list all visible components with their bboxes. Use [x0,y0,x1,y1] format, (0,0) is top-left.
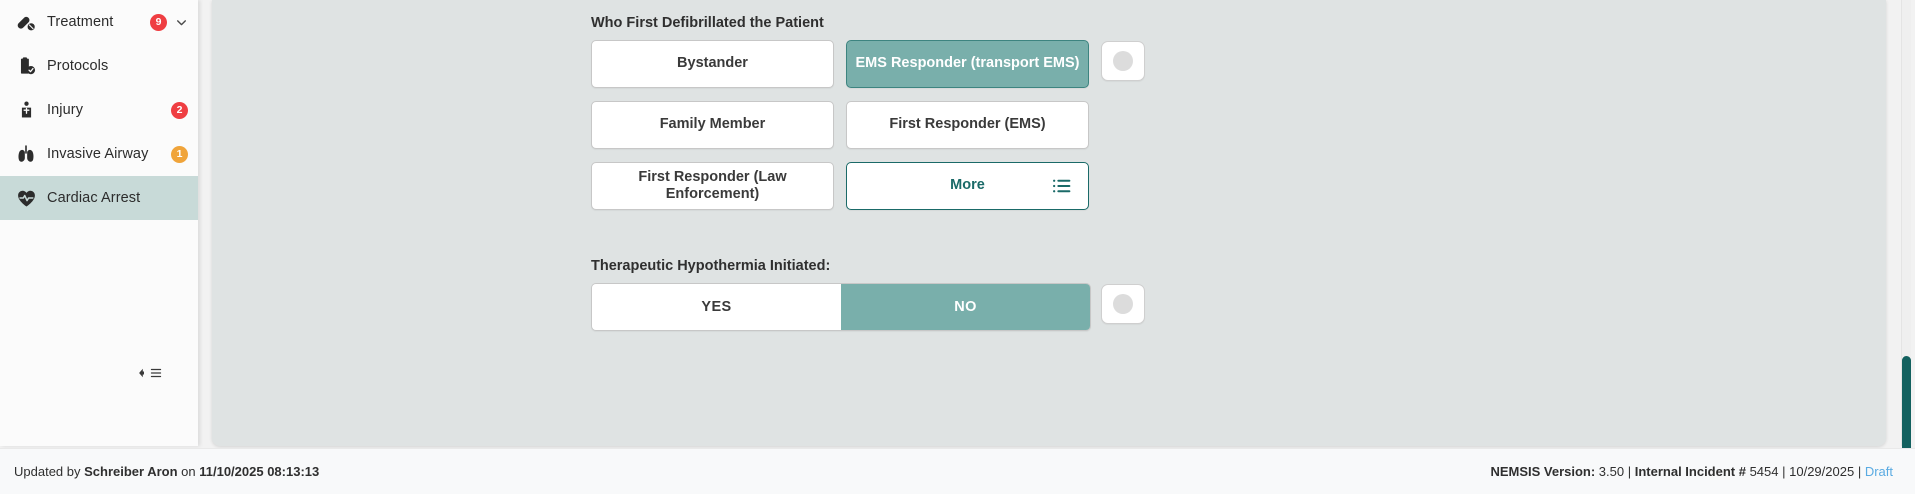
hypothermia-option-yes[interactable]: YES [592,284,841,330]
status-badge[interactable]: Draft [1861,464,1893,479]
list-icon [1051,176,1072,197]
updated-user: Schreiber Aron [84,464,177,479]
sidebar-badge-treatment: 9 [150,14,167,31]
injury-person-icon [14,99,38,121]
defib-question-label: Who First Defibrillated the Patient [591,15,824,31]
sidebar-badge-invasive-airway: 1 [171,146,188,163]
heart-pulse-icon [14,187,38,209]
defib-more-button[interactable]: More [846,162,1089,210]
content-panel: Who First Defibrillated the Patient Byst… [212,0,1886,446]
collapse-sidebar-row [0,366,198,384]
defib-option-family-member[interactable]: Family Member [591,101,834,149]
defib-option-first-responder-ems[interactable]: First Responder (EMS) [846,101,1089,149]
circle-icon [1113,51,1133,71]
sidebar-item-protocols[interactable]: Protocols [0,44,198,88]
defib-option-bystander[interactable]: Bystander [591,40,834,88]
lungs-icon [14,143,38,165]
updated-prefix: Updated by [14,464,84,479]
circle-icon [1113,294,1133,314]
record-meta-text: NEMSIS Version: 3.50 | Internal Incident… [1490,464,1893,479]
nemsis-version-value: 3.50 [1595,464,1628,479]
hypothermia-clear-button[interactable] [1101,284,1145,324]
defib-option-ems-responder[interactable]: EMS Responder (transport EMS) [846,40,1089,88]
last-updated-text: Updated by Schreiber Aron on 11/10/2025 … [14,464,319,479]
hypothermia-question-label: Therapeutic Hypothermia Initiated: [591,258,830,274]
nemsis-version-label: NEMSIS Version: [1490,464,1595,479]
sidebar-item-label: Injury [47,102,83,118]
sidebar-item-label: Cardiac Arrest [47,190,140,206]
sidebar-item-injury[interactable]: Injury 2 [0,88,198,132]
internal-incident-value: 5454 [1746,464,1782,479]
app-root: Treatment 9 Protocols [0,0,1915,494]
collapse-sidebar-button[interactable] [137,366,162,384]
sidebar-item-label: Invasive Airway [47,146,148,162]
pills-icon [14,11,38,33]
chevron-down-icon[interactable] [175,16,188,29]
sidebar-item-label: Treatment [47,14,113,30]
updated-timestamp: 11/10/2025 08:13:13 [199,464,319,479]
clipboard-check-icon [14,55,38,77]
hamburger-icon [150,366,162,384]
updated-mid: on [178,464,200,479]
vertical-scrollbar-thumb[interactable] [1902,356,1911,455]
sidebar-item-treatment[interactable]: Treatment 9 [0,0,198,44]
hypothermia-segmented-control: YES NO [591,283,1091,331]
more-button-label: More [950,177,985,194]
sidebar: Treatment 9 Protocols [0,0,198,446]
defib-option-clear-button[interactable] [1101,41,1145,81]
incident-date: 10/29/2025 [1786,464,1858,479]
defib-option-first-responder-law[interactable]: First Responder (Law Enforcement) [591,162,834,210]
sidebar-item-label: Protocols [47,58,108,74]
sidebar-item-cardiac-arrest[interactable]: Cardiac Arrest [0,176,198,220]
sidebar-badge-injury: 2 [171,102,188,119]
status-bar: Updated by Schreiber Aron on 11/10/2025 … [0,448,1915,494]
hypothermia-option-no[interactable]: NO [841,284,1090,330]
arrow-left-icon [137,366,149,384]
internal-incident-label: Internal Incident # [1631,464,1746,479]
sidebar-item-invasive-airway[interactable]: Invasive Airway 1 [0,132,198,176]
